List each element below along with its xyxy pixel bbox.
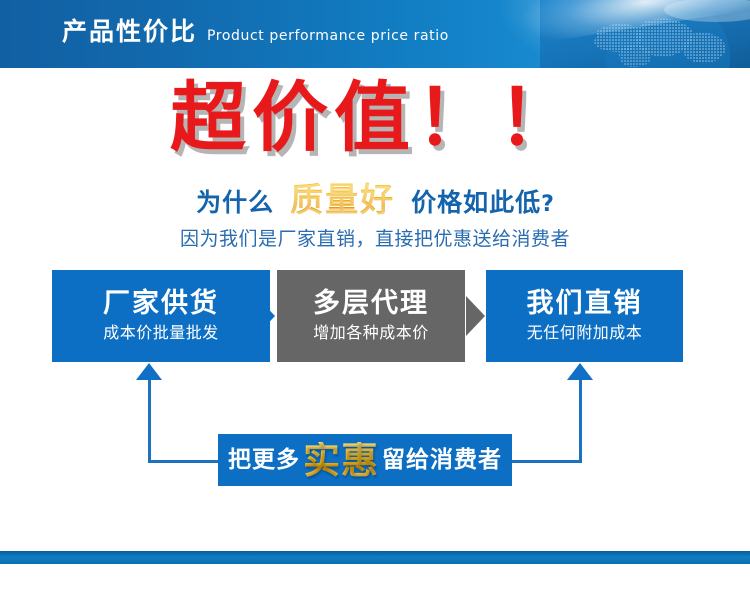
flow-box-manufacturer: 厂家供货 成本价批量批发 [52,270,270,362]
flow-diagram: 厂家供货 成本价批量批发 多层代理 增加各种成本价 我们直销 无任何附加成本 [0,0,750,590]
flow-box-title: 厂家供货 [103,289,219,319]
flow-box-subtitle: 无任何附加成本 [527,324,643,342]
flow-box-title: 我们直销 [527,289,643,319]
flow-box-title: 多层代理 [313,289,429,319]
footer-bar [0,551,750,564]
cta-emphasis: 实惠 [303,442,379,479]
flow-box-agents: 多层代理 增加各种成本价 [277,270,465,362]
chevron-right-gray-icon [466,296,485,336]
arrow-up-icon-right [567,363,593,380]
flow-box-subtitle: 增加各种成本价 [313,324,429,342]
cta-prefix: 把更多 [228,449,300,472]
promo-banner-page: 产品性价比 Product performance price ratio 超价… [0,0,750,590]
cta-suffix: 留给消费者 [382,449,502,472]
connector-line-horizontal-left [148,460,220,463]
connector-line-horizontal-right [511,460,582,463]
chevron-right-blue-icon [256,296,275,336]
flow-box-subtitle: 成本价批量批发 [103,324,219,342]
arrow-up-icon-left [136,363,162,380]
connector-line-vertical-right [579,380,582,463]
cta-banner: 把更多实惠留给消费者 [218,434,512,486]
flow-box-direct-sales: 我们直销 无任何附加成本 [486,270,683,362]
connector-line-vertical-left [148,380,151,463]
